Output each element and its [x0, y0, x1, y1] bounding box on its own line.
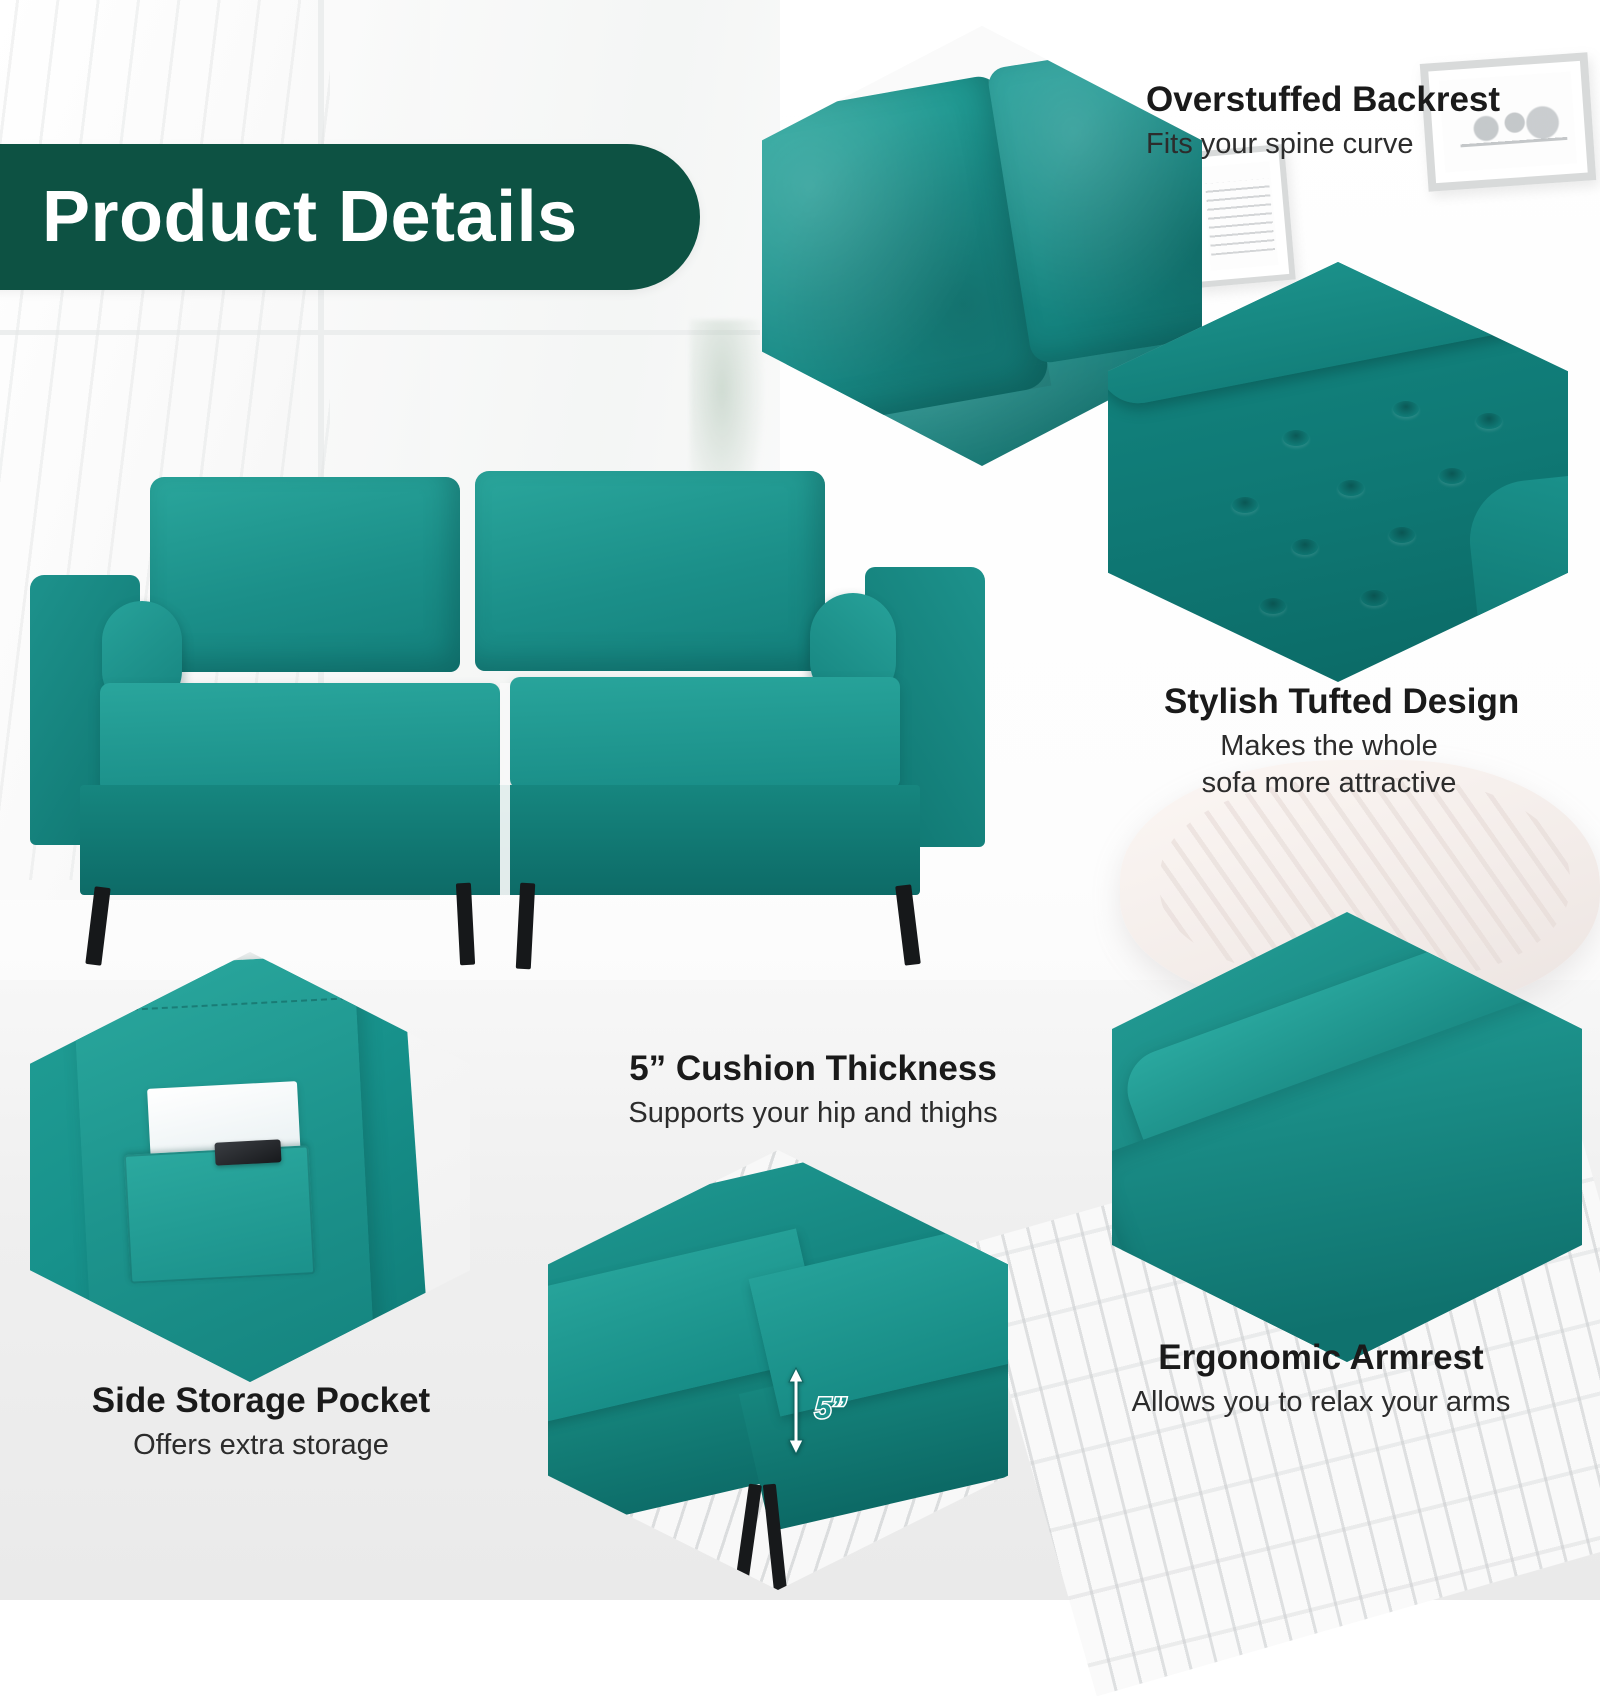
callout-title: Stylish Tufted Design	[1164, 682, 1494, 721]
callout-stylish-tufted-design: Stylish Tufted Design Makes the whole so…	[1164, 682, 1494, 801]
callout-subtitle: Fits your spine curve	[1146, 126, 1500, 163]
callout-subtitle: Makes the whole sofa more attractive	[1164, 728, 1494, 801]
sofa-leg-center-right	[516, 883, 535, 970]
sofa-leg-front-left	[85, 886, 110, 965]
callout-title: Ergonomic Armrest	[1126, 1338, 1516, 1377]
callout-subtitle: Allows you to relax your arms	[1126, 1384, 1516, 1421]
callout-subtitle-line: Allows you to relax your arms	[1126, 1384, 1516, 1421]
module-gap	[500, 683, 510, 895]
back-cushion-left	[150, 477, 460, 672]
product-details-banner: Product Details	[0, 144, 700, 290]
tuft-button	[1439, 468, 1465, 484]
callout-subtitle-line: sofa more attractive	[1164, 765, 1494, 802]
thickness-value-label: 5”	[815, 1392, 847, 1426]
tuft-button	[1389, 527, 1415, 543]
callout-subtitle: Supports your hip and thighs	[628, 1095, 998, 1132]
callout-title: Side Storage Pocket	[76, 1381, 446, 1420]
callout-subtitle-line: Makes the whole	[1164, 728, 1494, 765]
storage-pocket	[124, 1145, 315, 1283]
page-title: Product Details	[42, 181, 578, 253]
seat-cushion-right	[510, 677, 900, 789]
callout-overstuffed-backrest: Overstuffed Backrest Fits your spine cur…	[1146, 80, 1500, 163]
callout-ergonomic-armrest: Ergonomic Armrest Allows you to relax yo…	[1126, 1338, 1516, 1421]
callout-title: Overstuffed Backrest	[1146, 80, 1500, 119]
callout-subtitle: Offers extra storage	[76, 1427, 446, 1464]
sofa-leg-front-right	[895, 884, 921, 965]
tuft-button	[1260, 598, 1286, 614]
callout-side-storage-pocket: Side Storage Pocket Offers extra storage	[76, 1381, 446, 1464]
tuft-button	[1393, 401, 1419, 417]
callout-subtitle-line: Offers extra storage	[76, 1427, 446, 1464]
back-cushion-right	[475, 471, 825, 671]
art-sketch	[1205, 179, 1274, 256]
phone-device	[214, 1139, 281, 1166]
sofa-leg-center-left	[456, 883, 475, 966]
seat-cushion-left	[100, 683, 500, 793]
hero-product-image	[20, 455, 1030, 975]
callout-subtitle-line: Fits your spine curve	[1146, 126, 1500, 163]
tuft-button	[1361, 590, 1387, 606]
callout-cushion-thickness: 5” Cushion Thickness Supports your hip a…	[628, 1049, 998, 1132]
callout-subtitle-line: Supports your hip and thighs	[628, 1095, 998, 1132]
callout-title: 5” Cushion Thickness	[628, 1049, 998, 1088]
tuft-button	[1283, 430, 1309, 446]
thickness-arrow-icon	[787, 1366, 805, 1456]
